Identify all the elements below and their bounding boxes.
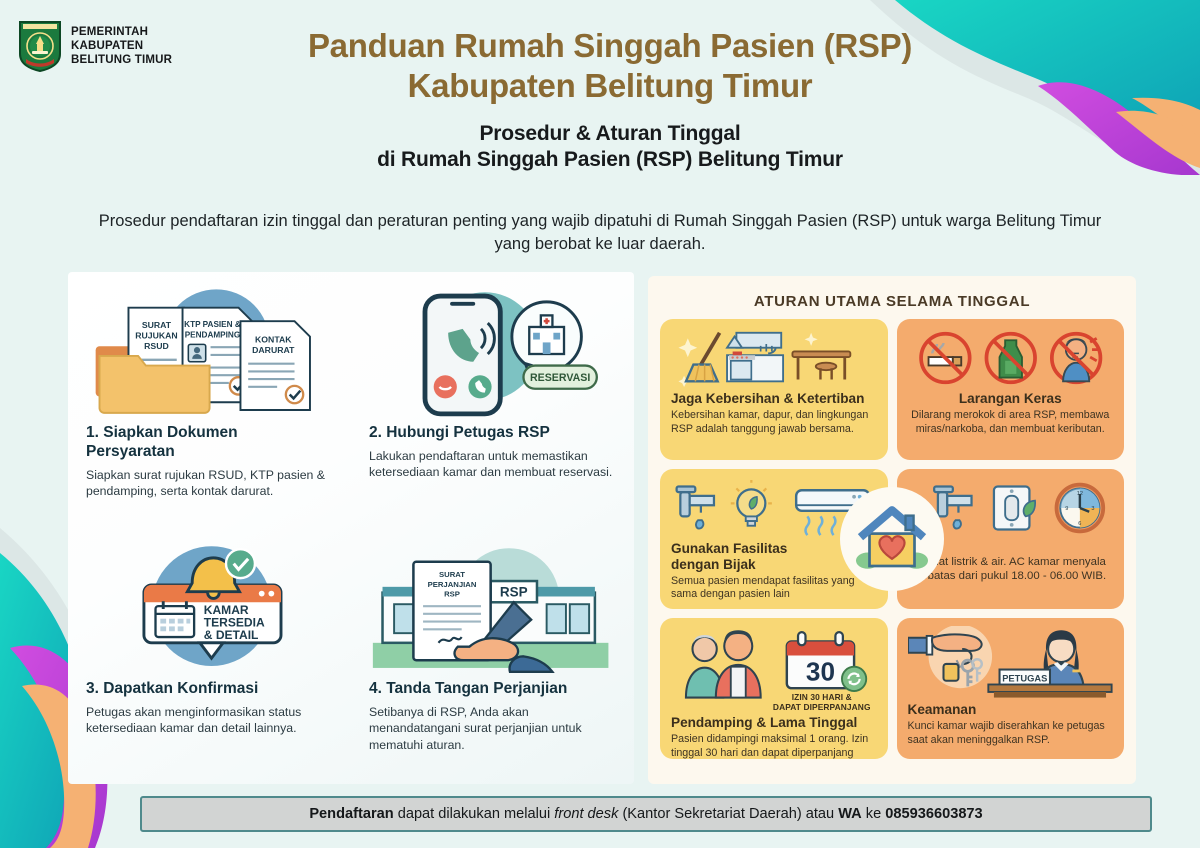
- rule-description: Dilarang merokok di area RSP, membawa mi…: [908, 409, 1114, 436]
- footer-mid2: (Kantor Sekretariat Daerah) atau: [618, 806, 838, 822]
- rule-title: Pendamping & Lama Tinggal: [671, 715, 877, 731]
- step-description: Lakukan pendaftaran untuk memastikan ket…: [369, 448, 620, 481]
- phone-call-icon: RESERVASI: [369, 284, 620, 424]
- house-rules-panel: ATURAN UTAMA SELAMA TINGGAL: [648, 276, 1136, 784]
- rule-description: Pasien didampingi maksimal 1 orang. Izin…: [671, 733, 877, 759]
- rule-title: Keamanan: [908, 702, 1114, 718]
- rule-card-cleanliness: Jaga Kebersihan & Ketertiban Kebersihan …: [660, 319, 888, 460]
- hand-keys-front-desk-icon: PETUGAS: [908, 626, 1114, 700]
- footer-mid1: dapat dilakukan melalui: [394, 806, 555, 822]
- step-title: 4. Tanda Tangan Perjanjian: [369, 680, 620, 699]
- svg-text:DARURAT: DARURAT: [252, 345, 295, 355]
- svg-text:12: 12: [1076, 491, 1082, 497]
- footer-text: Pendaftaran dapat dilakukan melalui fron…: [309, 806, 982, 822]
- svg-text:RUJUKAN: RUJUKAN: [135, 331, 177, 341]
- footer-lead: Pendaftaran: [309, 806, 393, 822]
- rule-card-security: PETUGAS Keamanan Kunci kamar wajib diser…: [897, 618, 1125, 759]
- svg-text:RSP: RSP: [500, 584, 528, 599]
- title-wrap: Panduan Rumah Singgah Pasien (RSP) Kabup…: [200, 26, 1020, 174]
- registration-footer-bar: Pendaftaran dapat dilakukan melalui fron…: [140, 796, 1152, 832]
- svg-text:3: 3: [1091, 506, 1094, 512]
- svg-text:PERJANJIAN: PERJANJIAN: [428, 580, 477, 589]
- svg-text:KONTAK: KONTAK: [255, 334, 292, 344]
- documents-folder-icon: SURAT RUJUKAN RSUD KTP PASIEN & PENDAMPI…: [86, 284, 337, 424]
- notification-bell-calendar-icon: KAMAR TERSEDIA & DETAIL: [86, 540, 337, 680]
- svg-text:SURAT: SURAT: [439, 570, 465, 579]
- no-smoking-no-alcohol-no-noise-icon: [908, 327, 1114, 389]
- svg-text:KTP PASIEN &: KTP PASIEN &: [184, 320, 241, 329]
- rule-card-companion-duration: 30 IZIN 30 HARI & DAPAT DIPERPANJANG Pen…: [660, 618, 888, 759]
- svg-text:& DETAIL: & DETAIL: [204, 628, 259, 642]
- rule-card-prohibitions: Larangan Keras Dilarang merokok di area …: [897, 319, 1125, 460]
- house-with-heart-icon: [840, 487, 944, 591]
- svg-text:RSUD: RSUD: [144, 341, 169, 351]
- rule-description: Kunci kamar wajib diserahkan ke petugas …: [908, 720, 1114, 747]
- step-title: 1. Siapkan Dokumen Persyaratan: [86, 424, 337, 462]
- svg-text:PENDAMPING: PENDAMPING: [185, 331, 241, 340]
- step-description: Siapkan surat rujukan RSUD, KTP pasien &…: [86, 467, 337, 500]
- footer-mid3: ke: [862, 806, 886, 822]
- rules-grid: Jaga Kebersihan & Ketertiban Kebersihan …: [660, 319, 1124, 759]
- government-logo-block: PEMERINTAH KABUPATEN BELITUNG TIMUR: [18, 20, 172, 72]
- rule-description: Semua pasien mendapat fasilitas yang sam…: [671, 575, 877, 602]
- step-card-4: RSP SURAT PERJANJIAN RSP 4. Tanda Tangan…: [351, 528, 634, 784]
- step-title: 3. Dapatkan Konfirmasi: [86, 680, 337, 699]
- step-card-2: RESERVASI 2. Hubungi Petugas RSP Lakukan…: [351, 272, 634, 528]
- rule-title: Jaga Kebersihan & Ketertiban: [671, 391, 877, 407]
- rules-panel-title: ATURAN UTAMA SELAMA TINGGAL: [660, 293, 1124, 310]
- broom-kitchen-table-icon: [671, 327, 877, 389]
- footer-phone: 085936603873: [885, 806, 982, 822]
- registration-steps-panel: SURAT RUJUKAN RSUD KTP PASIEN & PENDAMPI…: [68, 272, 634, 784]
- svg-text:RSP: RSP: [444, 589, 460, 598]
- two-people-calendar-30-icon: 30: [671, 626, 877, 700]
- signing-agreement-icon: RSP SURAT PERJANJIAN RSP: [369, 540, 620, 680]
- belitung-timur-regency-crest-icon: [18, 20, 62, 72]
- page-title: Panduan Rumah Singgah Pasien (RSP) Kabup…: [200, 26, 1020, 107]
- svg-text:6: 6: [1078, 520, 1081, 526]
- footer-wa: WA: [838, 806, 862, 822]
- step-card-3: KAMAR TERSEDIA & DETAIL 3. Dapatkan Konf…: [68, 528, 351, 784]
- rule-title: Larangan Keras: [908, 391, 1114, 407]
- days-badge-number: 30: [806, 657, 835, 687]
- svg-text:9: 9: [1065, 506, 1068, 512]
- svg-text:RESERVASI: RESERVASI: [530, 372, 590, 384]
- page-header: PEMERINTAH KABUPATEN BELITUNG TIMUR Pand…: [0, 0, 1200, 195]
- step-description: Setibanya di RSP, Anda akan menandatanga…: [369, 704, 620, 753]
- page-subtitle: Prosedur & Aturan Tinggal di Rumah Singg…: [200, 121, 1020, 175]
- svg-text:SURAT: SURAT: [142, 320, 172, 330]
- rule-description: Kebersihan kamar, dapur, dan lingkungan …: [671, 409, 877, 436]
- step-description: Petugas akan menginformasikan status ket…: [86, 704, 337, 737]
- step-card-1: SURAT RUJUKAN RSUD KTP PASIEN & PENDAMPI…: [68, 272, 351, 528]
- intro-paragraph: Prosedur pendaftaran izin tinggal dan pe…: [95, 210, 1105, 256]
- step-title: 2. Hubungi Petugas RSP: [369, 424, 620, 443]
- footer-italic: front desk: [554, 806, 618, 822]
- desk-sign-label: PETUGAS: [1002, 674, 1047, 684]
- logo-text: PEMERINTAH KABUPATEN BELITUNG TIMUR: [71, 25, 172, 67]
